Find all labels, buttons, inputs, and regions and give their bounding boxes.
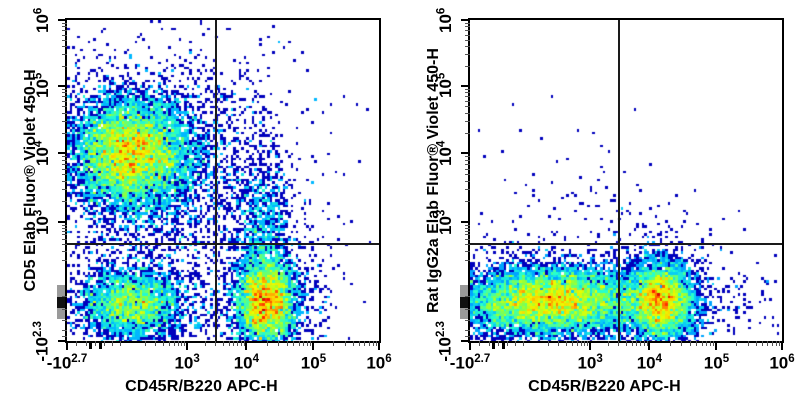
x-axis-title-right: CD45R/B220 APC-H xyxy=(403,378,806,396)
x-tick-label: 106 xyxy=(769,353,794,374)
x-tick-label: 105 xyxy=(704,353,729,374)
x-tick-label: 106 xyxy=(366,353,391,374)
quadrant-gate-horizontal-right[interactable] xyxy=(470,243,782,245)
y-axis-title-right: Rat IgG2a Elab Fluor® Violet 450-H xyxy=(425,48,443,313)
y-tick-label: 106 xyxy=(32,7,53,32)
x-tick-label: -102.7 xyxy=(450,353,491,374)
density-plot-left xyxy=(67,20,379,341)
axis-negative-peak-marker-right xyxy=(460,297,468,308)
x-tick-label: 104 xyxy=(637,353,662,374)
y-axis-title-left: CD5 Elab Fluor® Violet 450-H xyxy=(22,69,40,291)
axis-negative-peak-marker-left xyxy=(57,297,65,308)
x-tick-label: 104 xyxy=(234,353,259,374)
quadrant-gate-horizontal-left[interactable] xyxy=(67,243,379,245)
y-tick-label: -102.3 xyxy=(435,321,456,362)
x-tick-label: 103 xyxy=(577,353,602,374)
flow-cytometry-figure: -102.7103104105106106105104103-102.3 CD4… xyxy=(0,0,806,408)
x-tick-label: 105 xyxy=(301,353,326,374)
y-tick-label: 106 xyxy=(435,7,456,32)
panel-right: -102.7103104105106106105104103-102.3 CD4… xyxy=(403,0,806,408)
quadrant-gate-vertical-left[interactable] xyxy=(215,20,217,341)
x-tick-label: 103 xyxy=(174,353,199,374)
x-axis-title-left: CD45R/B220 APC-H xyxy=(0,378,403,396)
x-tick-label: -102.7 xyxy=(47,353,88,374)
panel-left: -102.7103104105106106105104103-102.3 CD4… xyxy=(0,0,403,408)
y-tick-label: -102.3 xyxy=(32,321,53,362)
density-plot-right xyxy=(470,20,782,341)
quadrant-gate-vertical-right[interactable] xyxy=(618,20,620,341)
